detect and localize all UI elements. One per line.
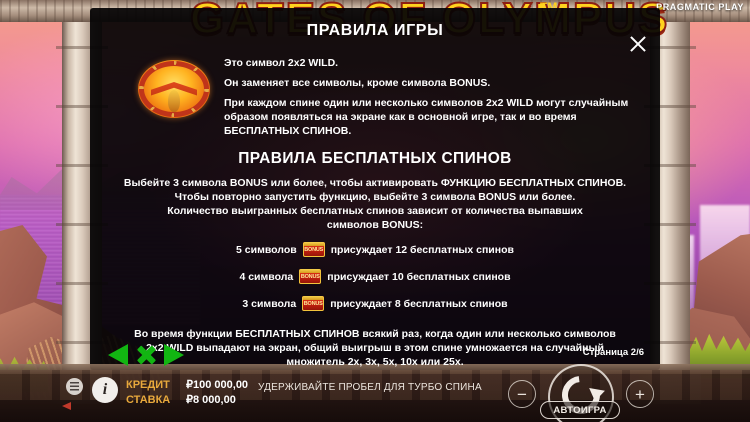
bonus-icon-label: BONUS xyxy=(299,273,321,281)
freespins-intro-line-1: Выбейте 3 символа BONUS или более, чтобы… xyxy=(108,176,642,190)
info-icon[interactable]: i xyxy=(92,377,118,403)
bonus-award-suffix: присуждает 12 бесплатных спинов xyxy=(331,244,514,256)
overlay-navigation xyxy=(108,344,184,366)
autoplay-button[interactable]: АВТОИГРА xyxy=(540,401,620,419)
list-item: 4 символа BONUS присуждает 10 бесплатных… xyxy=(90,269,660,284)
wild-2x2-symbol-icon xyxy=(138,60,210,118)
game-rules-overlay: ПРАВИЛА ИГРЫ Это символ 2x2 WILD. Он зам… xyxy=(90,8,660,370)
bonus-award-prefix: 3 символа xyxy=(242,298,296,310)
freespins-intro-line-2: Чтобы повторно запустить функцию, выбейт… xyxy=(108,190,642,204)
bonus-award-list: 5 символов BONUS присуждает 12 бесплатны… xyxy=(90,242,660,311)
list-item: 3 символа BONUS присуждает 8 бесплатных … xyxy=(90,296,660,311)
bonus-symbol-icon: BONUS xyxy=(299,269,321,284)
bonus-award-suffix: присуждает 8 бесплатных спинов xyxy=(330,298,507,310)
page-title: ПРАВИЛА ИГРЫ xyxy=(90,22,660,40)
wild-line-3: При каждом спине один или несколько симв… xyxy=(224,96,636,138)
page-indicator: Страница 2/6 xyxy=(583,347,644,358)
bonus-award-prefix: 4 символа xyxy=(239,271,293,283)
increase-bet-button[interactable]: + xyxy=(626,380,654,408)
credit-label: КРЕДИТ xyxy=(126,378,178,393)
bottom-toolbar: i КРЕДИТ ₽100 000,00 СТАВКА ₽8 000,00 УД… xyxy=(0,370,750,422)
menu-icon[interactable] xyxy=(66,378,83,395)
decrease-bet-button[interactable]: − xyxy=(508,380,536,408)
bonus-symbol-icon: BONUS xyxy=(302,296,324,311)
wild-line-1: Это символ 2x2 WILD. xyxy=(224,56,636,70)
credit-value: ₽100 000,00 xyxy=(186,378,248,393)
sound-icon[interactable] xyxy=(62,400,76,412)
close-x-icon[interactable] xyxy=(135,344,157,366)
arrow-right-icon[interactable] xyxy=(164,344,184,366)
close-icon[interactable] xyxy=(628,34,648,54)
wild-line-2: Он заменяет все символы, кроме символа B… xyxy=(224,76,636,90)
list-item: 5 символов BONUS присуждает 12 бесплатны… xyxy=(90,242,660,257)
bet-label: СТАВКА xyxy=(126,393,178,408)
arrow-left-icon[interactable] xyxy=(108,344,128,366)
turbo-spin-hint: УДЕРЖИВАЙТЕ ПРОБЕЛ ДЛЯ ТУРБО СПИНА xyxy=(258,382,482,393)
provider-logo: PRAGMATIC PLAY xyxy=(656,2,744,12)
freespins-intro-line-3: Количество выигранных бесплатных спинов … xyxy=(108,204,642,218)
bonus-icon-label: BONUS xyxy=(303,246,325,254)
freespins-title: ПРАВИЛА БЕСПЛАТНЫХ СПИНОВ xyxy=(90,150,660,168)
bet-value: ₽8 000,00 xyxy=(186,393,236,408)
credit-row: КРЕДИТ ₽100 000,00 xyxy=(126,378,248,393)
freespins-intro-line-4: символов BONUS: xyxy=(108,218,642,232)
wild-symbol-section: Это символ 2x2 WILD. Он заменяет все сим… xyxy=(90,54,660,138)
multiplier-text: Во время функции БЕСПЛАТНЫХ СПИНОВ всяки… xyxy=(126,327,624,369)
bonus-icon-label: BONUS xyxy=(302,300,324,308)
freespins-intro: Выбейте 3 символа BONUS или более, чтобы… xyxy=(90,176,660,232)
bonus-award-prefix: 5 символов xyxy=(236,244,297,256)
special-reels-description: Специальные барабаны участвуют в игре во… xyxy=(90,369,660,370)
bonus-award-suffix: присуждает 10 бесплатных спинов xyxy=(327,271,510,283)
bonus-symbol-icon: BONUS xyxy=(303,242,325,257)
bet-row: СТАВКА ₽8 000,00 xyxy=(126,393,248,408)
balance-panel: КРЕДИТ ₽100 000,00 СТАВКА ₽8 000,00 xyxy=(126,378,248,408)
wild-description: Это символ 2x2 WILD. Он заменяет все сим… xyxy=(224,54,636,138)
game-screen: GATES OF OLYMPUS TM PRAGMATIC PLAY ПРАВИ… xyxy=(0,0,750,422)
